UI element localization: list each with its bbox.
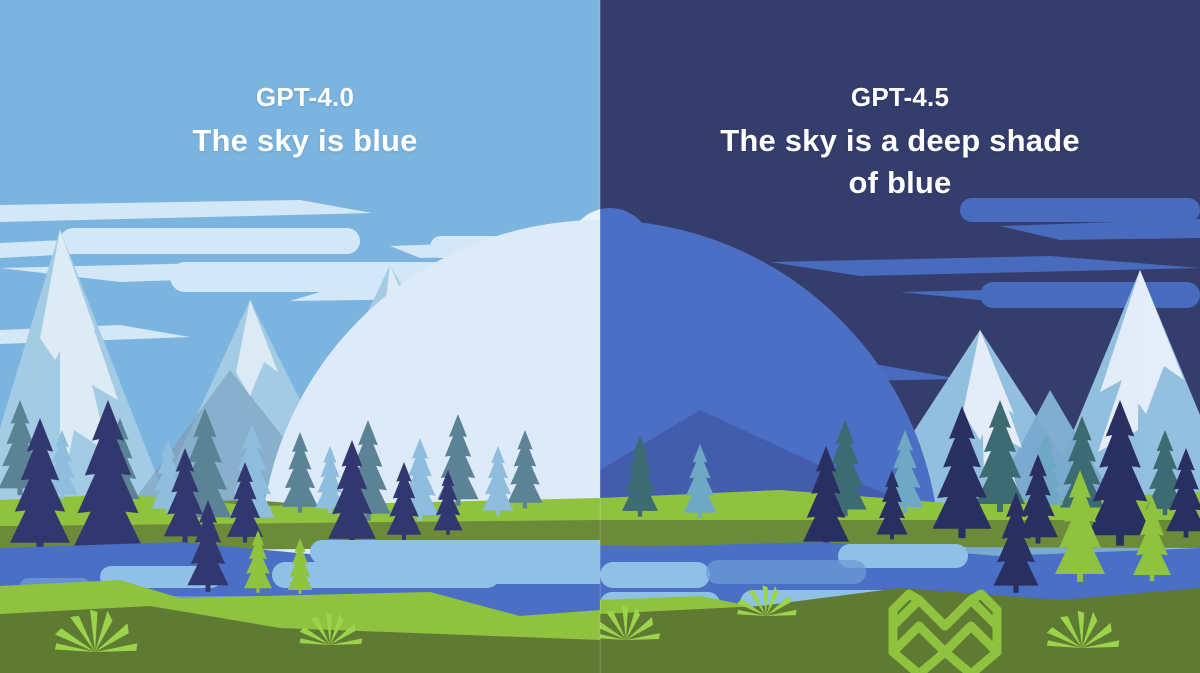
illustration-canvas: GPT-4.0 The sky is blue GPT-4.5 The sky … [0, 0, 1200, 673]
panel-divider [600, 0, 601, 673]
